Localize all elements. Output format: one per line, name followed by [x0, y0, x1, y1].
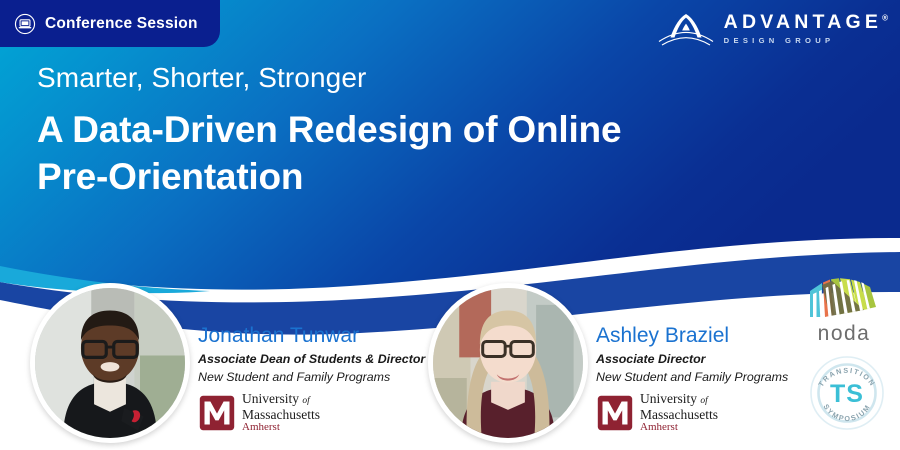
noda-logo: noda: [803, 277, 885, 344]
conference-session-slide: Conference Session ADVANTAGE® DESIGN GRO…: [0, 0, 900, 450]
umass-m-icon: [198, 394, 236, 432]
page-title: A Data-Driven Redesign of Online Pre-Ori…: [37, 107, 797, 200]
transition-symposium-badge-icon: TRANSITION SYMPOSIUM TS: [806, 352, 888, 434]
speaker-info: Jonathan Tunwar Associate Dean of Studen…: [198, 283, 425, 433]
umass-amherst-logo: University of Massachusetts Amherst: [198, 392, 425, 433]
speaker-department: New Student and Family Programs: [198, 369, 425, 387]
avatar: [30, 283, 190, 443]
speaker-department: New Student and Family Programs: [596, 369, 788, 387]
umass-line-1: University of: [640, 392, 718, 407]
laptop-icon: [14, 13, 36, 35]
transition-symposium-logo: TRANSITION SYMPOSIUM TS: [806, 352, 888, 434]
advantage-brand-name: ADVANTAGE®: [724, 13, 888, 33]
umass-of-text: of: [302, 396, 309, 406]
conference-session-badge: Conference Session: [0, 0, 220, 47]
umass-amherst-logo: University of Massachusetts Amherst: [596, 392, 788, 433]
umass-university-text: University: [640, 391, 697, 406]
umass-line-2: Massachusetts: [640, 408, 718, 422]
speaker-role: Associate Director: [596, 351, 788, 369]
noda-fan-icon: [808, 277, 880, 321]
umass-line-2: Massachusetts: [242, 408, 320, 422]
page-title-line-2: Pre-Orientation: [37, 156, 303, 197]
umass-wordmark: University of Massachusetts Amherst: [640, 392, 718, 433]
speaker-info: Ashley Braziel Associate Director New St…: [596, 283, 788, 433]
umass-wordmark: University of Massachusetts Amherst: [242, 392, 320, 433]
umass-of-text: of: [700, 396, 707, 406]
umass-line-1: University of: [242, 392, 320, 407]
speaker-card-ashley-braziel: Ashley Braziel Associate Director New St…: [428, 283, 788, 443]
symposium-initials: TS: [830, 380, 864, 408]
speaker-name: Ashley Braziel: [596, 324, 788, 347]
advantage-tagline: DESIGN GROUP: [724, 37, 888, 45]
advantage-wordmark: ADVANTAGE® DESIGN GROUP: [724, 11, 888, 44]
umass-university-text: University: [242, 391, 299, 406]
arch-dome-icon: [655, 8, 717, 48]
session-subtitle: Smarter, Shorter, Stronger: [37, 62, 797, 93]
advantage-brand-name-text: ADVANTAGE: [724, 11, 882, 33]
umass-line-3: Amherst: [242, 422, 320, 433]
umass-m-icon: [596, 394, 634, 432]
speaker-photo-ashley-braziel: [433, 288, 583, 438]
umass-line-3: Amherst: [640, 422, 718, 433]
page-title-line-1: A Data-Driven Redesign of Online: [37, 109, 621, 150]
speaker-name: Jonathan Tunwar: [198, 324, 425, 347]
speaker-photo-jonathan-tunwar: [35, 288, 185, 438]
advantage-design-group-logo: ADVANTAGE® DESIGN GROUP: [655, 8, 888, 48]
speaker-role: Associate Dean of Students & Director: [198, 351, 425, 369]
registered-mark: ®: [882, 14, 888, 23]
avatar: [428, 283, 588, 443]
speaker-card-jonathan-tunwar: Jonathan Tunwar Associate Dean of Studen…: [30, 283, 425, 443]
title-block: Smarter, Shorter, Stronger A Data-Driven…: [37, 62, 797, 200]
noda-wordmark: noda: [803, 323, 885, 344]
conference-session-badge-label: Conference Session: [45, 15, 198, 33]
